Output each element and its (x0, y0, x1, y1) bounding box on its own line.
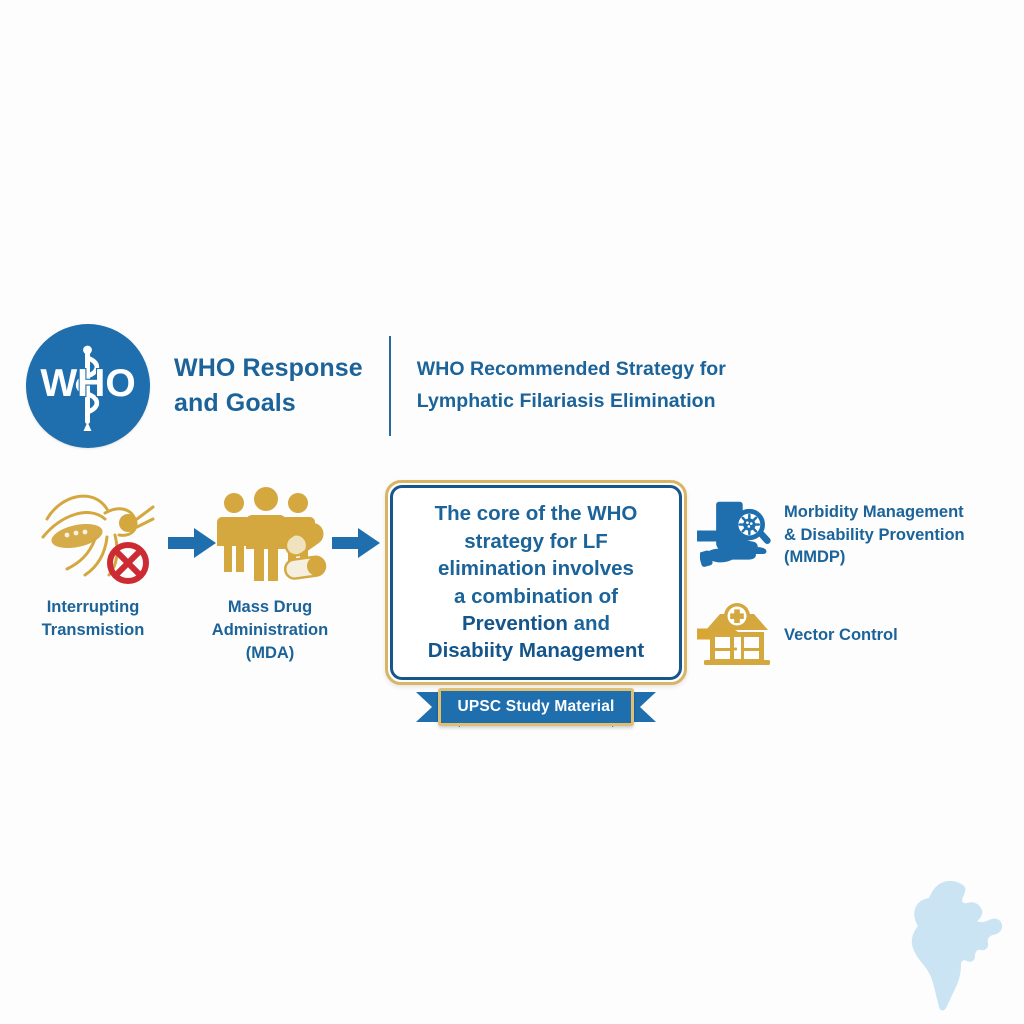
foot-magnifier-hand-icon (700, 498, 774, 572)
core-line-5: Prevention and (428, 610, 644, 637)
outcome-vector-control: Vector Control (700, 598, 898, 672)
india-map-watermark (905, 875, 1015, 1015)
core-strategy-box-inner: The core of the WHO strategy for LF elim… (390, 485, 682, 680)
page-title: WHO Response and Goals (174, 351, 363, 422)
core-strategy-text: The core of the WHO strategy for LF elim… (428, 500, 644, 665)
header-divider (389, 336, 391, 436)
header-subtitle: WHO Recommended Strategy for Lymphatic F… (417, 354, 726, 417)
header: WHO WHO Response and Goals WHO Recommend… (26, 324, 726, 448)
flow-step-mass-drug-administration: Mass Drug Administration (MDA) (190, 478, 350, 664)
people-with-pills-icon (190, 478, 350, 588)
infographic-canvas: WHO WHO Response and Goals WHO Recommend… (0, 0, 1024, 1024)
ribbon-label: UPSC Study Material (457, 698, 614, 716)
who-logo: WHO (26, 324, 150, 448)
outcome-mmdp: Morbidity Management & Disability Proven… (700, 498, 965, 572)
core-line-3: elimination involves (428, 555, 644, 582)
health-clinic-building-icon (700, 598, 774, 672)
upsc-study-material-ribbon: UPSC Study Material (416, 688, 656, 726)
core-emphasis-prevention: Prevention (462, 612, 568, 635)
who-logo-text: WHO (40, 362, 135, 405)
mosquito-blocked-icon (8, 478, 178, 588)
flow-step-label: Interrupting Transmistion (8, 596, 178, 642)
ribbon-plate: UPSC Study Material (438, 688, 634, 726)
core-line-4: a combination of (428, 583, 644, 610)
core-line-1: The core of the WHO (428, 500, 644, 527)
core-emphasis-disability-management: Disabiity Management (428, 637, 644, 664)
arrow-mda-to-core (332, 528, 380, 563)
flow-step-interrupting-transmission: Interrupting Transmistion (8, 478, 178, 642)
core-line-5-tail: and (568, 612, 610, 635)
outcome-label: Morbidity Management & Disability Proven… (784, 501, 965, 569)
core-strategy-box: The core of the WHO strategy for LF elim… (385, 480, 687, 685)
outcome-label: Vector Control (784, 624, 898, 647)
flow-step-label: Mass Drug Administration (MDA) (190, 596, 350, 664)
core-line-2: strategy for LF (428, 528, 644, 555)
